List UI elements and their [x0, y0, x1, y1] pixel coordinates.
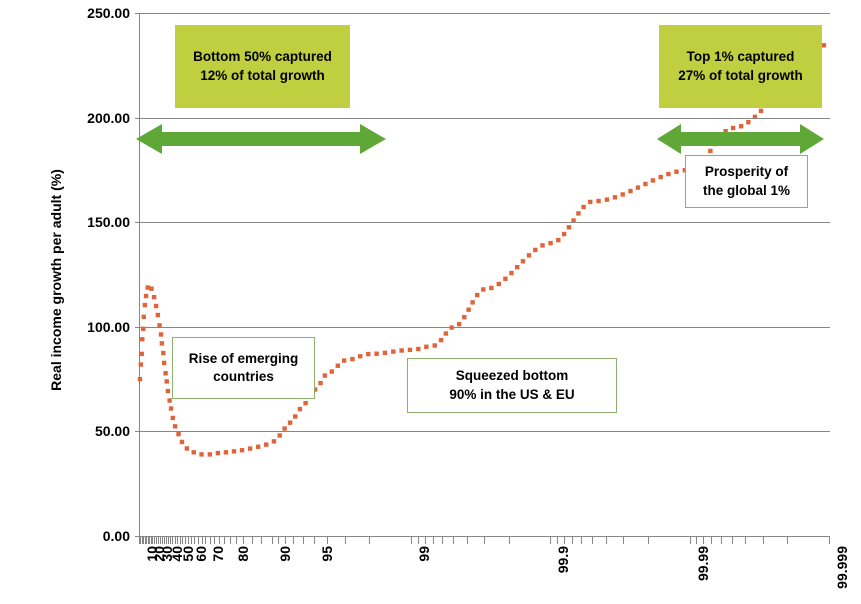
curve-point	[666, 172, 670, 176]
y-axis-tick-labels: 0.0050.00100.00150.00200.00250.00	[66, 0, 130, 604]
squeezed-bottom-callout-line2: 90% in the US & EU	[449, 386, 574, 404]
x-axis-minor-tick	[202, 537, 203, 544]
x-axis-minor-tick	[592, 537, 593, 544]
y-axis-tick-label: 150.00	[66, 215, 130, 229]
curve-point	[822, 43, 826, 47]
x-axis-minor-tick	[278, 537, 279, 544]
curve-point	[160, 341, 164, 345]
curve-point	[330, 369, 334, 373]
x-axis-minor-tick	[572, 537, 573, 544]
curve-point	[358, 354, 362, 358]
x-axis-minor-tick	[272, 537, 273, 544]
bottom-50-callout: Bottom 50% captured 12% of total growth	[175, 25, 350, 108]
x-axis-minor-tick	[191, 537, 192, 544]
x-axis-minor-tick	[433, 537, 434, 544]
bottom-50-callout-line1: Bottom 50% captured	[193, 48, 332, 66]
curve-point	[481, 287, 485, 291]
x-axis-minor-tick	[557, 537, 558, 544]
curve-point	[140, 337, 144, 341]
squeezed-bottom-callout-line1: Squeezed bottom	[449, 367, 574, 385]
x-axis-tick-label: 99.999	[835, 546, 849, 589]
curve-point	[466, 307, 470, 311]
x-axis-minor-tick	[509, 537, 510, 544]
x-axis-minor-tick	[160, 537, 161, 544]
curve-point	[556, 238, 560, 242]
x-axis-minor-tick	[369, 537, 370, 544]
curve-point	[166, 389, 170, 393]
x-axis-minor-tick	[453, 537, 454, 544]
x-axis-tick-labels: 102030405060708090959999.999.9999.999	[139, 546, 830, 604]
curve-point	[548, 241, 552, 245]
x-axis-minor-tick	[188, 537, 189, 544]
curve-point	[278, 433, 282, 437]
prosperity-callout-line1: Prosperity of	[703, 163, 790, 181]
x-axis-minor-tick	[711, 537, 712, 544]
y-axis-tick-label: 50.00	[66, 424, 130, 438]
curve-point	[457, 322, 461, 326]
y-axis-title-text: Real income growth per adult (%)	[48, 169, 64, 391]
rise-of-emerging-callout: Rise of emerging countries	[172, 337, 315, 399]
curve-point	[489, 286, 493, 290]
curve-point	[470, 300, 474, 304]
curve-point	[674, 170, 678, 174]
y-axis-title: Real income growth per adult (%)	[44, 130, 68, 430]
x-axis-minor-tick	[164, 537, 165, 544]
curve-point	[383, 351, 387, 355]
curve-point	[144, 294, 148, 298]
curve-point	[444, 331, 448, 335]
curve-point	[533, 248, 537, 252]
curve-point	[605, 197, 609, 201]
top-1-callout: Top 1% captured 27% of total growth	[659, 25, 822, 108]
y-axis-tick-label: 200.00	[66, 111, 130, 125]
y-axis-tick-label: 250.00	[66, 6, 130, 20]
curve-point	[288, 420, 292, 424]
curve-point	[497, 282, 501, 286]
y-axis-tick-label: 0.00	[66, 529, 130, 543]
y-axis-tick-label: 100.00	[66, 320, 130, 334]
x-axis-minor-tick	[194, 537, 195, 544]
top-1-span-arrow	[657, 122, 824, 156]
x-axis-minor-tick	[158, 537, 159, 544]
x-axis-minor-tick	[175, 537, 176, 544]
y-gridline	[140, 222, 830, 223]
x-axis-minor-tick	[703, 537, 704, 544]
curve-point	[293, 414, 297, 418]
curve-point	[208, 452, 212, 456]
rise-of-emerging-callout-line1: Rise of emerging	[189, 350, 299, 368]
x-axis-minor-tick	[425, 537, 426, 544]
x-axis-minor-tick	[411, 537, 412, 544]
curve-point	[240, 448, 244, 452]
x-axis-minor-tick	[166, 537, 167, 544]
y-axis-tick-mark	[135, 13, 140, 14]
x-axis-minor-tick	[564, 537, 565, 544]
x-axis-minor-tick	[442, 537, 443, 544]
x-axis-tick-label: 95	[320, 546, 334, 562]
x-axis-minor-tick	[763, 537, 764, 544]
x-axis-minor-tick	[327, 537, 328, 544]
curve-point	[154, 304, 158, 308]
curve-point	[416, 347, 420, 351]
curve-point	[163, 371, 167, 375]
y-gridline	[140, 431, 830, 432]
x-axis-minor-tick	[648, 537, 649, 544]
curve-point	[156, 313, 160, 317]
x-axis-minor-tick	[345, 537, 346, 544]
x-axis-minor-tick	[172, 537, 173, 544]
curve-point	[621, 192, 625, 196]
x-axis-minor-tick	[745, 537, 746, 544]
x-axis-minor-tick	[205, 537, 206, 544]
curve-point	[256, 445, 260, 449]
x-axis-minor-tick	[623, 537, 624, 544]
y-gridline	[140, 13, 830, 14]
x-axis-minor-tick	[732, 537, 733, 544]
x-axis-minor-tick	[721, 537, 722, 544]
curve-point	[643, 182, 647, 186]
squeezed-bottom-callout: Squeezed bottom 90% in the US & EU	[407, 358, 617, 413]
curve-point	[350, 357, 354, 361]
x-axis-minor-tick	[484, 537, 485, 544]
curve-point	[180, 440, 184, 444]
x-axis-minor-tick	[230, 537, 231, 544]
bottom-50-span-arrow	[136, 122, 386, 156]
y-axis-tick-mark	[135, 118, 140, 119]
x-axis-minor-tick	[243, 537, 244, 544]
x-axis-tick-label: 99	[417, 546, 431, 562]
x-axis-minor-tick	[177, 537, 178, 544]
x-axis-minor-tick	[185, 537, 186, 544]
curve-point	[165, 379, 169, 383]
x-axis-minor-tick	[236, 537, 237, 544]
curve-point	[232, 449, 236, 453]
curve-point	[581, 205, 585, 209]
curve-point	[298, 407, 302, 411]
x-axis-tick-label: 99.99	[696, 546, 710, 581]
curve-point	[149, 286, 153, 290]
curve-point	[142, 315, 146, 319]
x-axis-minor-tick	[252, 537, 253, 544]
curve-point	[336, 364, 340, 368]
curve-point	[318, 381, 322, 385]
x-axis-minor-tick	[180, 537, 181, 544]
curve-point	[264, 442, 268, 446]
x-axis-minor-ticks	[139, 537, 830, 544]
x-axis-minor-tick	[314, 537, 315, 544]
x-axis-tick-label: 99.9	[556, 546, 570, 573]
prosperity-callout-line2: the global 1%	[703, 182, 790, 200]
x-axis-minor-tick	[303, 537, 304, 544]
y-gridline	[140, 118, 830, 119]
curve-point	[323, 373, 327, 377]
x-axis-minor-tick	[606, 537, 607, 544]
x-axis-minor-tick	[219, 537, 220, 544]
curve-point	[596, 199, 600, 203]
x-axis-tick-label: 60	[194, 546, 208, 562]
curve-point	[224, 450, 228, 454]
x-axis-minor-tick	[787, 537, 788, 544]
x-axis-tick-label: 70	[211, 546, 225, 562]
x-axis-minor-tick	[293, 537, 294, 544]
curve-point	[169, 406, 173, 410]
curve-point	[391, 349, 395, 353]
x-axis-minor-tick	[182, 537, 183, 544]
curve-point	[759, 109, 763, 113]
curve-point	[374, 352, 378, 356]
curve-point	[138, 377, 142, 381]
curve-point	[628, 189, 632, 193]
curve-point	[159, 332, 163, 336]
curve-point	[527, 253, 531, 257]
curve-point	[576, 211, 580, 215]
curve-point	[540, 243, 544, 247]
curve-point	[143, 303, 147, 307]
y-axis-tick-mark	[135, 536, 140, 537]
x-axis-minor-tick	[170, 537, 171, 544]
y-axis-tick-mark	[135, 222, 140, 223]
x-axis-minor-tick	[418, 537, 419, 544]
curve-point	[651, 178, 655, 182]
top-1-callout-line1: Top 1% captured	[678, 48, 803, 66]
x-axis-tick-label: 90	[278, 546, 292, 562]
x-axis-minor-tick	[224, 537, 225, 544]
curve-point	[192, 450, 196, 454]
curve-point	[282, 426, 286, 430]
curve-point	[152, 295, 156, 299]
curve-point	[248, 446, 252, 450]
curve-point	[173, 424, 177, 428]
curve-point	[424, 345, 428, 349]
prosperity-callout: Prosperity of the global 1%	[685, 155, 808, 208]
curve-point	[509, 271, 513, 275]
rise-of-emerging-callout-line2: countries	[189, 368, 299, 386]
curve-point	[658, 175, 662, 179]
y-gridline	[140, 536, 830, 537]
curve-point	[171, 416, 175, 420]
x-axis-minor-tick	[210, 537, 211, 544]
top-1-callout-line2: 27% of total growth	[678, 67, 803, 85]
y-gridline	[140, 327, 830, 328]
curve-point	[303, 401, 307, 405]
x-axis-minor-tick	[467, 537, 468, 544]
curve-point	[272, 439, 276, 443]
curve-point	[342, 358, 346, 362]
curve-point	[167, 398, 171, 402]
x-axis-minor-tick	[198, 537, 199, 544]
curve-point	[567, 225, 571, 229]
x-axis-minor-tick	[829, 537, 830, 544]
curve-point	[140, 352, 144, 356]
curve-point	[521, 259, 525, 263]
y-axis-tick-mark	[135, 327, 140, 328]
x-axis-minor-tick	[162, 537, 163, 544]
curve-point	[432, 343, 436, 347]
chart-root: Real income growth per adult (%) 0.0050.…	[0, 0, 861, 604]
bottom-50-callout-line2: 12% of total growth	[193, 67, 332, 85]
curve-point	[366, 352, 370, 356]
x-axis-minor-tick	[690, 537, 691, 544]
x-axis-minor-tick	[696, 537, 697, 544]
curve-point	[462, 315, 466, 319]
curve-point	[139, 362, 143, 366]
x-axis-tick-label: 80	[236, 546, 250, 562]
curve-point	[562, 232, 566, 236]
x-axis-minor-tick	[168, 537, 169, 544]
curve-point	[439, 338, 443, 342]
x-axis-minor-tick	[581, 537, 582, 544]
curve-point	[613, 195, 617, 199]
curve-point	[475, 293, 479, 297]
x-axis-minor-tick	[214, 537, 215, 544]
curve-point	[185, 446, 189, 450]
x-axis-minor-tick	[550, 537, 551, 544]
curve-point	[161, 351, 165, 355]
curve-point	[216, 451, 220, 455]
curve-point	[162, 361, 166, 365]
x-axis-minor-tick	[261, 537, 262, 544]
curve-point	[636, 185, 640, 189]
y-axis-tick-mark	[135, 431, 140, 432]
curve-point	[503, 277, 507, 281]
x-axis-minor-tick	[285, 537, 286, 544]
curve-point	[515, 265, 519, 269]
curve-point	[408, 348, 412, 352]
curve-point	[199, 452, 203, 456]
curve-point	[176, 432, 180, 436]
curve-point	[588, 200, 592, 204]
curve-point	[399, 348, 403, 352]
